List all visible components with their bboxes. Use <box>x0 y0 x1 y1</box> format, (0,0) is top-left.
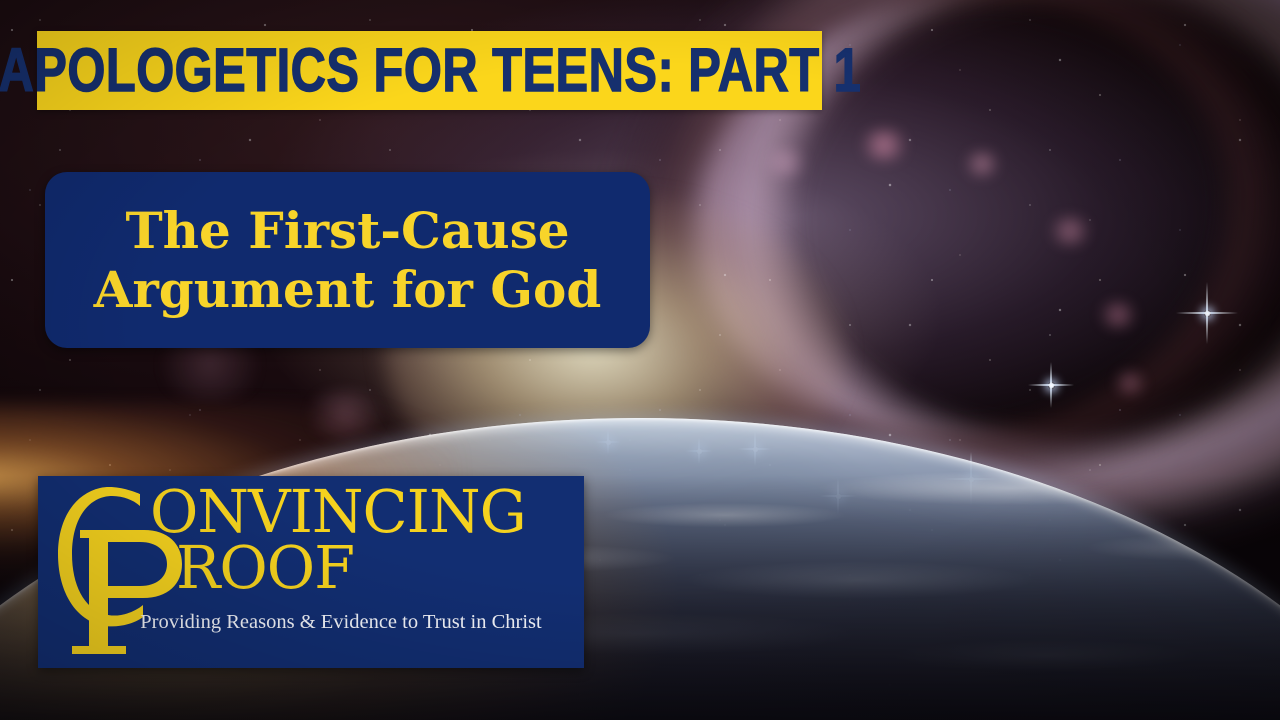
nebula-knot <box>1045 215 1095 247</box>
series-banner-text: APOLOGETICS FOR TEENS: PART 1 <box>0 40 861 101</box>
logo-wordmark-line-2: ROOF <box>176 538 354 597</box>
nebula-knot <box>855 128 913 162</box>
series-banner: APOLOGETICS FOR TEENS: PART 1 <box>37 31 822 110</box>
brand-logo: ONVINCING ROOF Providing Reasons & Evide… <box>38 476 584 668</box>
thumbnail-canvas: APOLOGETICS FOR TEENS: PART 1 The First-… <box>0 0 1280 720</box>
nebula-knot <box>960 150 1004 178</box>
title-card: The First-Cause Argument for God <box>45 172 650 348</box>
nebula-knot <box>1110 370 1150 396</box>
logo-tagline: Providing Reasons & Evidence to Trust in… <box>110 612 572 633</box>
title-line-1: The First-Cause <box>125 201 569 260</box>
title-line-2: Argument for God <box>94 260 602 319</box>
nebula-knot <box>760 148 812 178</box>
nebula-knot <box>1095 300 1141 330</box>
